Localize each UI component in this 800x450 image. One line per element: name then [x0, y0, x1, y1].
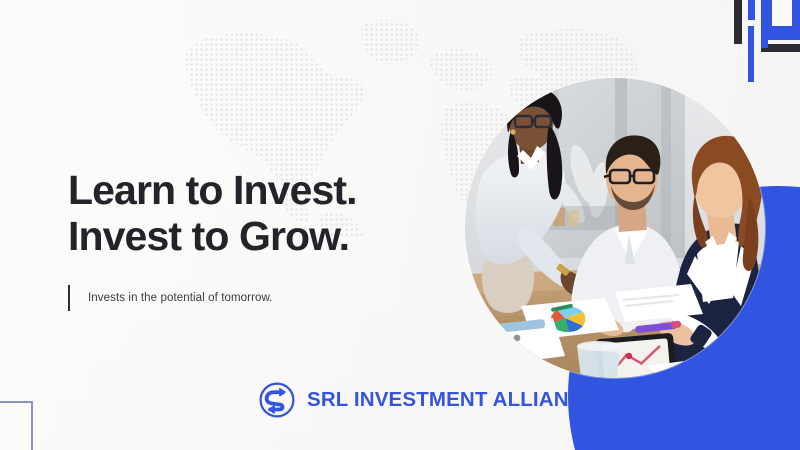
accent-bar: [68, 285, 70, 311]
subheadline: Invests in the potential of tomorrow.: [88, 291, 273, 306]
subheadline-row: Invests in the potential of tomorrow.: [68, 285, 468, 311]
copy-block: Learn to Invest. Invest to Grow. Invests…: [68, 168, 468, 311]
water-glass: [577, 341, 621, 378]
brand-name: SRL INVESTMENT ALLIANCE: [307, 388, 597, 412]
brand-lockup[interactable]: SRL INVESTMENT ALLIANCE: [258, 381, 597, 419]
page-title: Learn to Invest. Invest to Grow.: [68, 168, 468, 259]
hero-photo: [465, 78, 765, 378]
marketing-banner: Learn to Invest. Invest to Grow. Invests…: [0, 0, 800, 450]
srl-logo-icon: [258, 381, 296, 419]
